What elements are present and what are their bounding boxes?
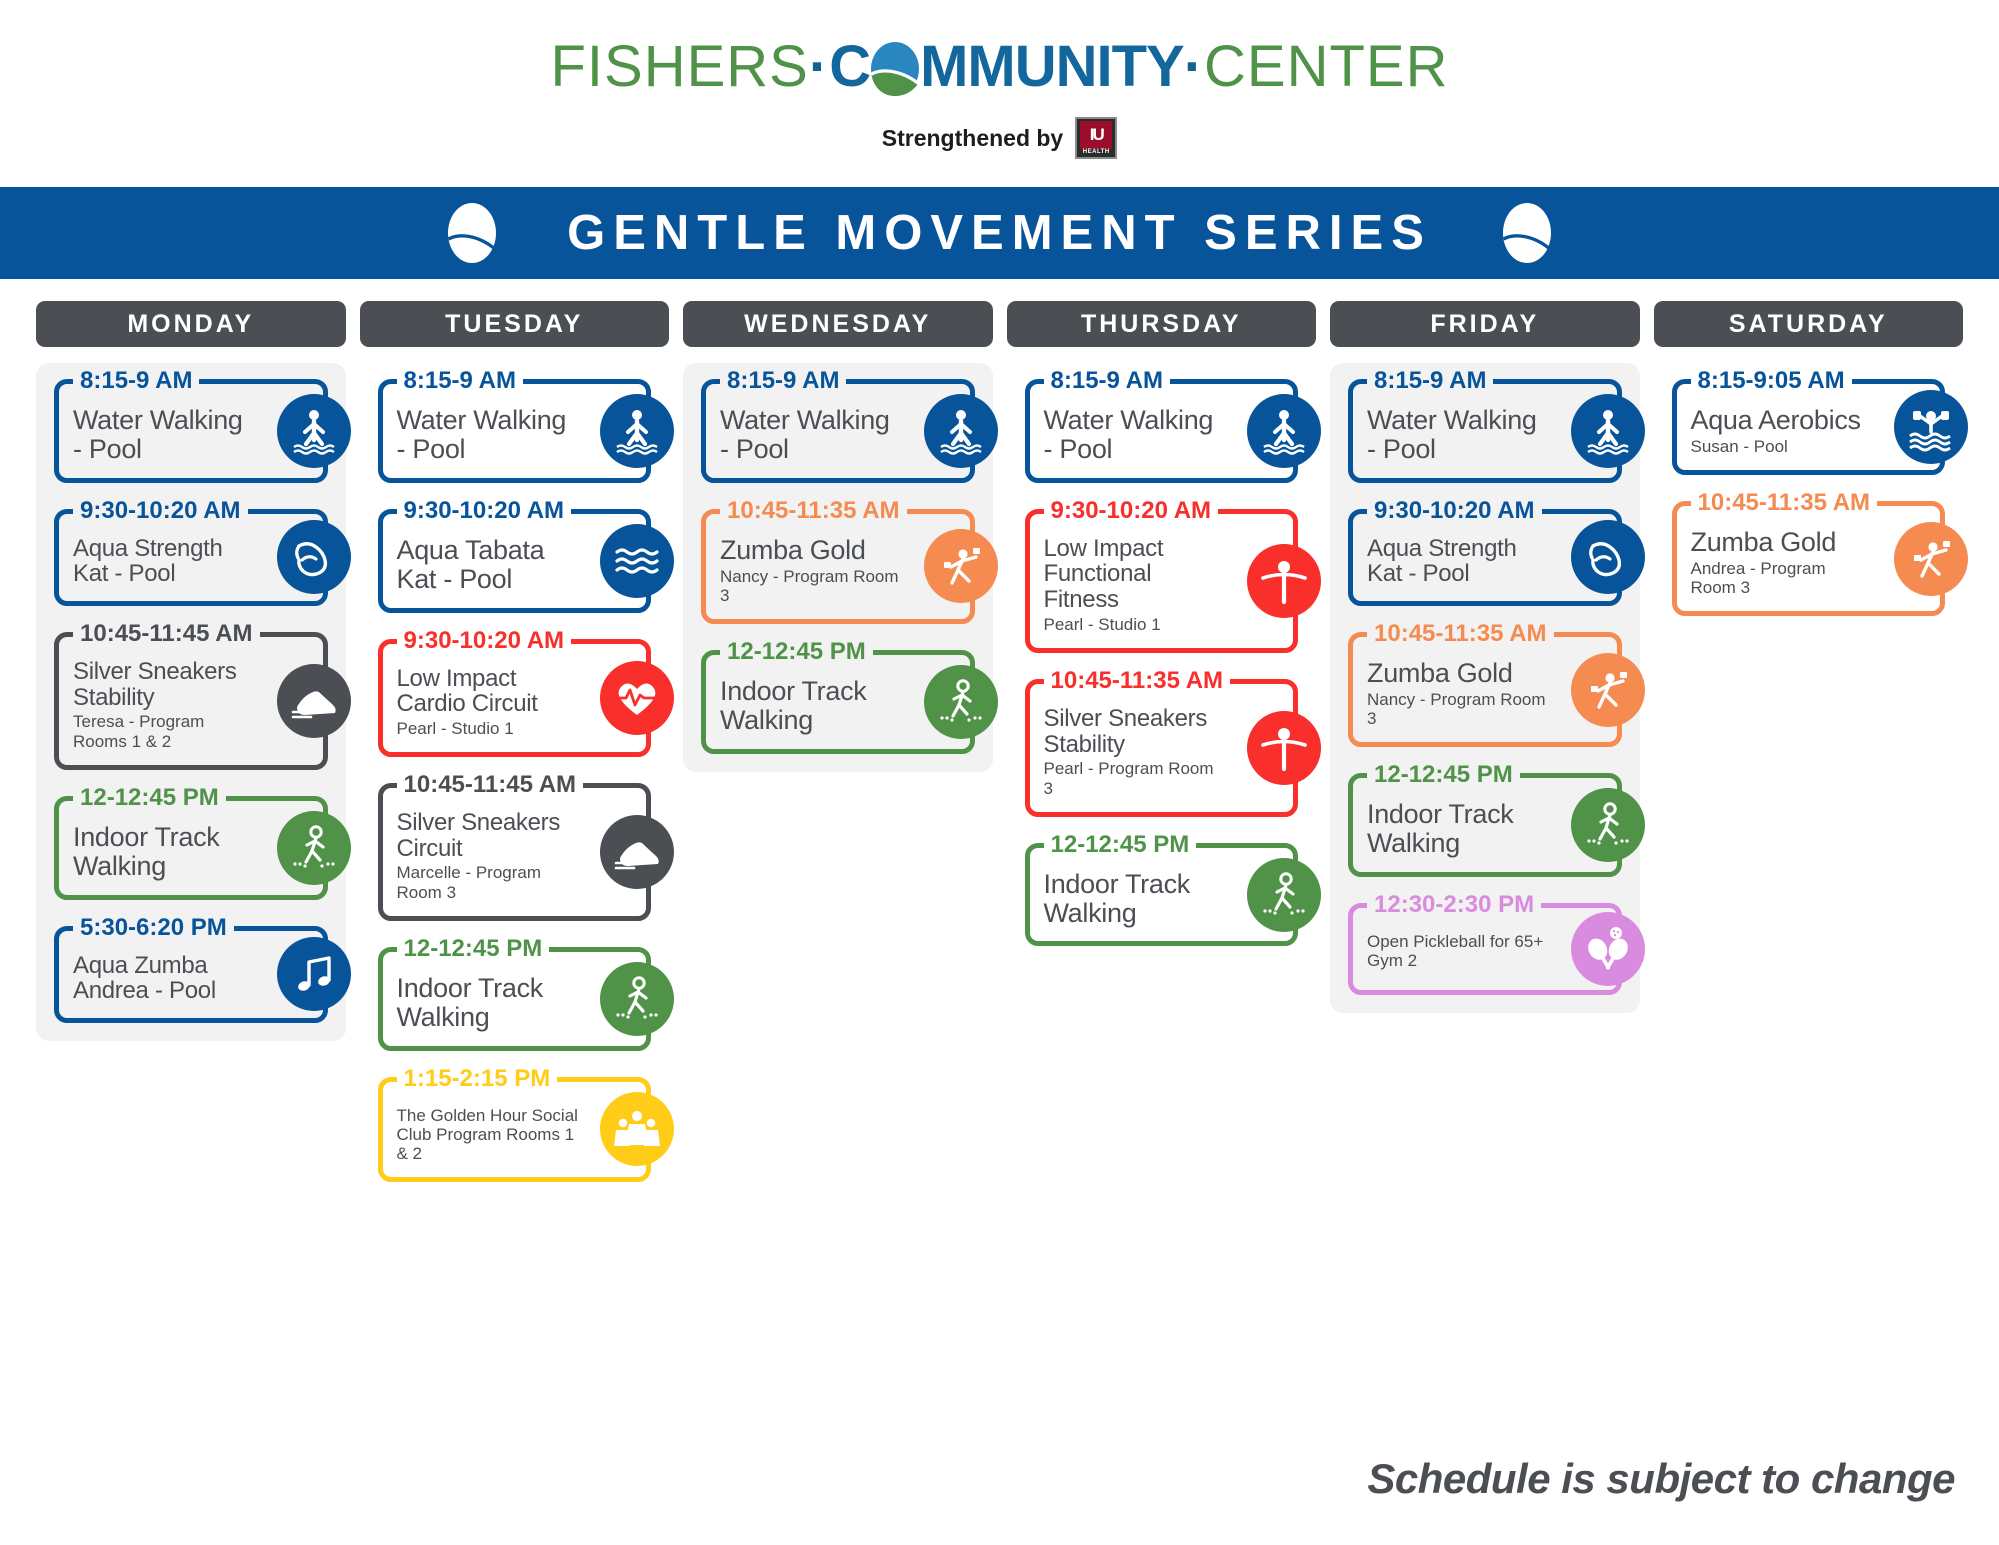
event-time: 9:30-10:20 AM — [1044, 497, 1219, 525]
event-time: 8:15-9 AM — [1367, 367, 1493, 395]
event-title: Water Walking - Pool — [720, 406, 904, 464]
event-time: 5:30-6:20 PM — [73, 914, 234, 942]
event-card-body: 10:45-11:35 AMZumba GoldAndrea - Program… — [1672, 501, 1946, 616]
day-header-friday: FRIDAY — [1330, 301, 1640, 347]
iu-health-logo: IU HEALTH — [1075, 117, 1117, 159]
logo-word-community-rest: MMUNITY — [920, 34, 1184, 99]
event-card[interactable]: 9:30-10:20 AMLow Impact Cardio CircuitPe… — [360, 639, 670, 758]
event-subtitle: Nancy - Program Room 3 — [720, 567, 904, 605]
dancer-icon — [1571, 653, 1645, 727]
strengthened-by-row: Strengthened by IU HEALTH — [0, 117, 1999, 159]
event-card[interactable]: 10:45-11:35 AMSilver Sneakers StabilityP… — [1007, 679, 1317, 817]
event-card-body: 9:30-10:20 AMAqua Strength Kat - Pool — [1348, 509, 1622, 606]
walking-icon — [924, 665, 998, 739]
event-title: Aqua Strength Kat - Pool — [1367, 536, 1551, 587]
event-card-body: 10:45-11:45 AMSilver Sneakers StabilityT… — [54, 632, 328, 770]
event-title: Indoor Track Walking — [73, 823, 257, 881]
event-title: Water Walking - Pool — [397, 406, 581, 464]
day-header-saturday: SATURDAY — [1654, 301, 1964, 347]
water-walking-icon — [1247, 394, 1321, 468]
schedule-disclaimer: Schedule is subject to change — [1367, 1455, 1955, 1503]
day-column-saturday: SATURDAY8:15-9:05 AMAqua AerobicsSusan -… — [1654, 301, 1964, 634]
event-card[interactable]: 9:30-10:20 AMAqua Strength Kat - Pool — [36, 509, 346, 606]
page-title: GENTLE MOVEMENT SERIES — [567, 205, 1432, 261]
day-header-thursday: THURSDAY — [1007, 301, 1317, 347]
event-card-body: 1:15-2:15 PMThe Golden Hour Social Club … — [378, 1077, 652, 1183]
event-time: 10:45-11:45 AM — [397, 771, 584, 799]
event-title: Indoor Track Walking — [1044, 870, 1228, 928]
event-card[interactable]: 8:15-9 AMWater Walking - Pool — [36, 379, 346, 483]
event-card-body: 9:30-10:20 AMLow Impact Cardio CircuitPe… — [378, 639, 652, 758]
event-card[interactable]: 10:45-11:45 AMSilver Sneakers CircuitMar… — [360, 783, 670, 921]
iu-health-label: HEALTH — [1083, 149, 1110, 155]
event-title: Silver Sneakers Stability — [1044, 706, 1228, 757]
water-walking-icon — [600, 394, 674, 468]
event-card[interactable]: 10:45-11:45 AMSilver Sneakers StabilityT… — [36, 632, 346, 770]
event-title: Aqua Zumba Andrea - Pool — [73, 953, 257, 1004]
event-card[interactable]: 1:15-2:15 PMThe Golden Hour Social Club … — [360, 1077, 670, 1183]
social-group-icon — [600, 1092, 674, 1166]
event-time: 1:15-2:15 PM — [397, 1065, 558, 1093]
event-card-body: 12:30-2:30 PMOpen Pickleball for 65+ Gym… — [1348, 903, 1622, 995]
schedule-grid: MONDAY8:15-9 AMWater Walking - Pool9:30-… — [0, 279, 1999, 1200]
event-time: 10:45-11:35 AM — [1044, 667, 1231, 695]
event-time: 8:15-9:05 AM — [1691, 367, 1852, 395]
waves-icon — [600, 524, 674, 598]
event-subtitle: Marcelle - Program Room 3 — [397, 863, 581, 901]
water-walking-icon — [1571, 394, 1645, 468]
event-card[interactable]: 10:45-11:35 AMZumba GoldNancy - Program … — [683, 509, 993, 624]
event-card-body: 8:15-9 AMWater Walking - Pool — [1025, 379, 1299, 483]
event-card[interactable]: 8:15-9 AMWater Walking - Pool — [683, 379, 993, 483]
balance-figure-icon — [1247, 544, 1321, 618]
logo-separator-2: · — [1184, 34, 1204, 99]
event-card-body: 12-12:45 PMIndoor Track Walking — [701, 650, 975, 754]
event-card[interactable]: 9:30-10:20 AMAqua Strength Kat - Pool — [1330, 509, 1640, 606]
dancer-icon — [1894, 522, 1968, 596]
logo-word-center: CENTER — [1204, 34, 1448, 99]
day-column-wednesday: WEDNESDAY8:15-9 AMWater Walking - Pool10… — [683, 301, 993, 772]
event-title: Silver Sneakers Stability — [73, 659, 257, 710]
iu-mark: IU — [1080, 121, 1112, 149]
event-subtitle: Susan - Pool — [1691, 437, 1875, 456]
aqua-aerobics-icon — [1894, 390, 1968, 464]
event-time: 8:15-9 AM — [1044, 367, 1170, 395]
day-panel-wednesday: 8:15-9 AMWater Walking - Pool10:45-11:35… — [683, 363, 993, 772]
event-card[interactable]: 8:15-9:05 AMAqua AerobicsSusan - Pool — [1654, 379, 1964, 475]
event-card-body: 10:45-11:45 AMSilver Sneakers CircuitMar… — [378, 783, 652, 921]
event-card[interactable]: 12-12:45 PMIndoor Track Walking — [1007, 843, 1317, 947]
event-subtitle: Pearl - Program Room 3 — [1044, 759, 1228, 797]
event-card[interactable]: 9:30-10:20 AMLow Impact Functional Fitne… — [1007, 509, 1317, 653]
event-subtitle: Open Pickleball for 65+ Gym 2 — [1367, 932, 1551, 970]
event-title: Aqua Tabata Kat - Pool — [397, 536, 581, 594]
event-card-body: 5:30-6:20 PMAqua Zumba Andrea - Pool — [54, 926, 328, 1023]
event-card-body: 12-12:45 PMIndoor Track Walking — [54, 796, 328, 900]
event-card[interactable]: 10:45-11:35 AMZumba GoldAndrea - Program… — [1654, 501, 1964, 616]
event-time: 12-12:45 PM — [397, 935, 550, 963]
event-card-body: 8:15-9 AMWater Walking - Pool — [54, 379, 328, 483]
day-column-thursday: THURSDAY8:15-9 AMWater Walking - Pool9:3… — [1007, 301, 1317, 964]
event-time: 12-12:45 PM — [1044, 831, 1197, 859]
event-title: Aqua Strength Kat - Pool — [73, 536, 257, 587]
event-title: Low Impact Functional Fitness — [1044, 536, 1228, 613]
event-card-body: 8:15-9 AMWater Walking - Pool — [701, 379, 975, 483]
event-time: 9:30-10:20 AM — [397, 497, 572, 525]
event-card[interactable]: 8:15-9 AMWater Walking - Pool — [360, 379, 670, 483]
event-time: 8:15-9 AM — [73, 367, 199, 395]
day-header-monday: MONDAY — [36, 301, 346, 347]
balance-figure-icon — [1247, 711, 1321, 785]
event-title: Water Walking - Pool — [73, 406, 257, 464]
bicep-icon — [1571, 520, 1645, 594]
brand-wordmark: FISHERS·C MMUNITY·CENTER — [550, 38, 1448, 97]
event-subtitle: Andrea - Program Room 3 — [1691, 559, 1875, 597]
event-card[interactable]: 12:30-2:30 PMOpen Pickleball for 65+ Gym… — [1330, 903, 1640, 995]
event-subtitle: Pearl - Studio 1 — [1044, 615, 1228, 634]
event-card[interactable]: 8:15-9 AMWater Walking - Pool — [1007, 379, 1317, 483]
event-subtitle: Pearl - Studio 1 — [397, 719, 581, 738]
event-card[interactable]: 12-12:45 PMIndoor Track Walking — [360, 947, 670, 1051]
event-time: 12:30-2:30 PM — [1367, 891, 1541, 919]
event-title: Low Impact Cardio Circuit — [397, 666, 581, 717]
event-card[interactable]: 12-12:45 PMIndoor Track Walking — [36, 796, 346, 900]
event-card[interactable]: 5:30-6:20 PMAqua Zumba Andrea - Pool — [36, 926, 346, 1023]
event-card-body: 8:15-9:05 AMAqua AerobicsSusan - Pool — [1672, 379, 1946, 475]
event-title: Water Walking - Pool — [1367, 406, 1551, 464]
event-card-body: 12-12:45 PMIndoor Track Walking — [1348, 773, 1622, 877]
logo-word-community-c: C — [829, 34, 870, 99]
event-title: Indoor Track Walking — [397, 974, 581, 1032]
day-column-tuesday: TUESDAY8:15-9 AMWater Walking - Pool9:30… — [360, 301, 670, 1200]
music-note-icon — [277, 937, 351, 1011]
event-time: 12-12:45 PM — [73, 784, 226, 812]
event-time: 8:15-9 AM — [397, 367, 523, 395]
dancer-icon — [924, 529, 998, 603]
strengthened-by-label: Strengthened by — [882, 125, 1063, 152]
event-title: Silver Sneakers Circuit — [397, 810, 581, 861]
event-time: 9:30-10:20 AM — [1367, 497, 1542, 525]
event-title: Aqua Aerobics — [1691, 406, 1875, 435]
event-time: 10:45-11:35 AM — [720, 497, 907, 525]
event-card-body: 8:15-9 AMWater Walking - Pool — [378, 379, 652, 483]
event-title: Zumba Gold — [1367, 659, 1551, 688]
event-card-body: 10:45-11:35 AMZumba GoldNancy - Program … — [1348, 632, 1622, 747]
event-title: Zumba Gold — [1691, 528, 1875, 557]
event-time: 9:30-10:20 AM — [73, 497, 248, 525]
event-time: 8:15-9 AM — [720, 367, 846, 395]
event-subtitle: Teresa - Program Rooms 1 & 2 — [73, 712, 257, 750]
event-time: 12-12:45 PM — [720, 638, 873, 666]
event-card[interactable]: 9:30-10:20 AMAqua Tabata Kat - Pool — [360, 509, 670, 613]
pickleball-icon — [1571, 912, 1645, 986]
event-title: Indoor Track Walking — [1367, 800, 1551, 858]
day-panel-friday: 8:15-9 AMWater Walking - Pool9:30-10:20 … — [1330, 363, 1640, 1013]
day-header-wednesday: WEDNESDAY — [683, 301, 993, 347]
event-subtitle: The Golden Hour Social Club Program Room… — [397, 1106, 581, 1164]
page-banner: GENTLE MOVEMENT SERIES — [0, 187, 1999, 279]
event-card-body: 9:30-10:20 AMAqua Tabata Kat - Pool — [378, 509, 652, 613]
day-panel-monday: 8:15-9 AMWater Walking - Pool9:30-10:20 … — [36, 363, 346, 1041]
event-card-body: 10:45-11:35 AMZumba GoldNancy - Program … — [701, 509, 975, 624]
banner-globe-icon-left — [445, 202, 499, 264]
event-card[interactable]: 10:45-11:35 AMZumba GoldNancy - Program … — [1330, 632, 1640, 747]
logo-separator-1: · — [809, 34, 829, 99]
sneaker-icon — [600, 815, 674, 889]
sneaker-icon — [277, 664, 351, 738]
day-header-tuesday: TUESDAY — [360, 301, 670, 347]
brand-logo-block: FISHERS·C MMUNITY·CENTER Strengthened by… — [0, 0, 1999, 159]
event-card[interactable]: 8:15-9 AMWater Walking - Pool — [1330, 379, 1640, 483]
event-time: 10:45-11:35 AM — [1367, 620, 1554, 648]
event-card-body: 12-12:45 PMIndoor Track Walking — [1025, 843, 1299, 947]
event-card-body: 10:45-11:35 AMSilver Sneakers StabilityP… — [1025, 679, 1299, 817]
walking-icon — [600, 962, 674, 1036]
walking-icon — [1571, 788, 1645, 862]
event-card-body: 9:30-10:20 AMLow Impact Functional Fitne… — [1025, 509, 1299, 653]
event-card-body: 9:30-10:20 AMAqua Strength Kat - Pool — [54, 509, 328, 606]
day-panel-tuesday: 8:15-9 AMWater Walking - Pool9:30-10:20 … — [360, 363, 670, 1200]
event-card-body: 12-12:45 PMIndoor Track Walking — [378, 947, 652, 1051]
logo-word-fishers: FISHERS — [550, 34, 808, 99]
event-title: Water Walking - Pool — [1044, 406, 1228, 464]
event-title: Indoor Track Walking — [720, 677, 904, 735]
walking-icon — [277, 811, 351, 885]
day-column-monday: MONDAY8:15-9 AMWater Walking - Pool9:30-… — [36, 301, 346, 1041]
event-title: Zumba Gold — [720, 536, 904, 565]
bicep-icon — [277, 520, 351, 594]
day-column-friday: FRIDAY8:15-9 AMWater Walking - Pool9:30-… — [1330, 301, 1640, 1013]
walking-icon — [1247, 858, 1321, 932]
banner-globe-icon-right — [1500, 202, 1554, 264]
event-time: 10:45-11:35 AM — [1691, 489, 1878, 517]
event-card-body: 8:15-9 AMWater Walking - Pool — [1348, 379, 1622, 483]
event-time: 10:45-11:45 AM — [73, 620, 260, 648]
event-card[interactable]: 12-12:45 PMIndoor Track Walking — [683, 650, 993, 754]
event-card[interactable]: 12-12:45 PMIndoor Track Walking — [1330, 773, 1640, 877]
day-panel-saturday: 8:15-9:05 AMAqua AerobicsSusan - Pool10:… — [1654, 363, 1964, 634]
event-time: 9:30-10:20 AM — [397, 627, 572, 655]
globe-icon — [868, 41, 922, 97]
event-subtitle: Nancy - Program Room 3 — [1367, 690, 1551, 728]
heartbeat-icon — [600, 661, 674, 735]
water-walking-icon — [924, 394, 998, 468]
event-time: 12-12:45 PM — [1367, 761, 1520, 789]
water-walking-icon — [277, 394, 351, 468]
day-panel-thursday: 8:15-9 AMWater Walking - Pool9:30-10:20 … — [1007, 363, 1317, 964]
